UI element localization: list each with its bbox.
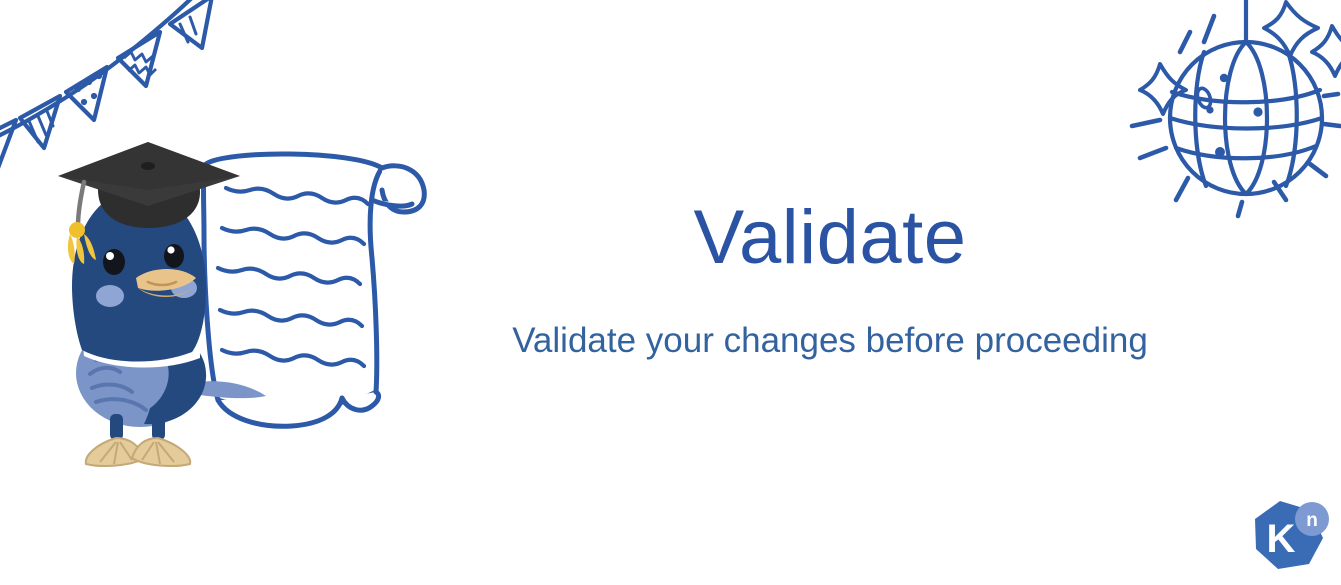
bunting-flag-plain	[0, 120, 16, 168]
page-subtitle: Validate your changes before proceeding	[470, 276, 1190, 362]
bunting-flag-zigzag	[118, 32, 160, 86]
bunting-flag-dots	[66, 67, 107, 120]
page-title: Validate	[470, 200, 1190, 276]
brand-logo[interactable]: K n	[1249, 499, 1331, 577]
logo-badge-letter-n: n	[1306, 510, 1318, 531]
bird-feet	[86, 438, 190, 466]
slide-canvas: Validate Validate your changes before pr…	[0, 0, 1341, 585]
disco-ball-rays	[1132, 16, 1340, 216]
disco-ball-sparkles	[1140, 2, 1341, 114]
logo-letter-k: K	[1267, 517, 1296, 561]
bird-with-scroll-illustration	[52, 138, 462, 478]
disco-ball-mirror-dots	[1206, 74, 1262, 157]
disco-ball-decoration	[1118, 0, 1341, 230]
bunting-flag-edge	[170, 0, 212, 48]
slide-text-block: Validate Validate your changes before pr…	[470, 200, 1190, 362]
